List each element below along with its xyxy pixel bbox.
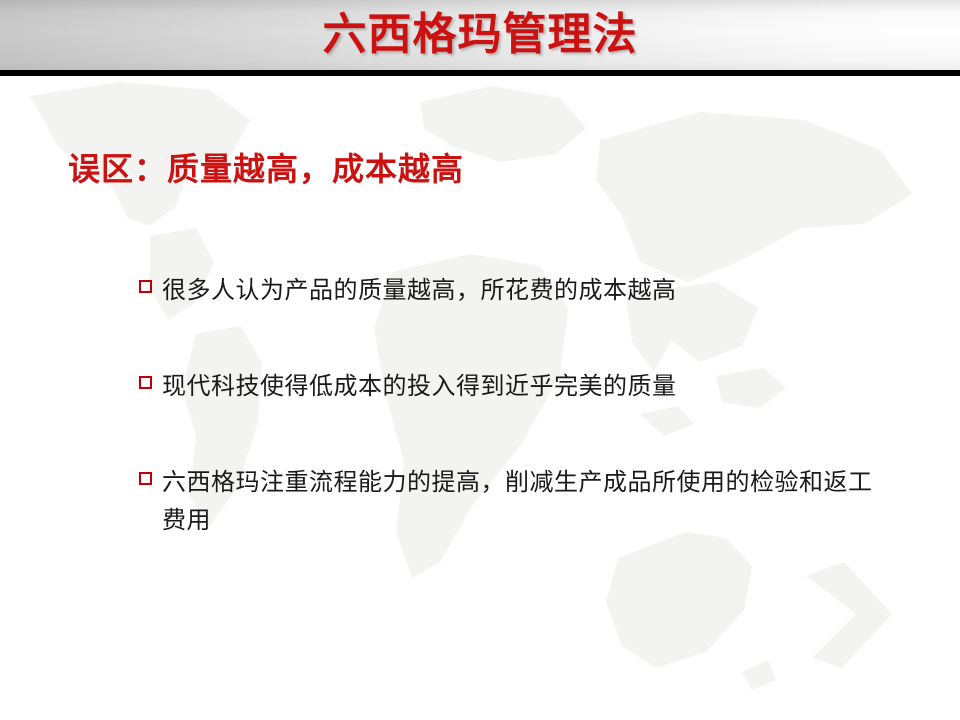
list-item: 六西格玛注重流程能力的提高，削减生产成品所使用的检验和返工费用 (138, 464, 878, 540)
list-item-label: 现代科技使得低成本的投入得到近乎完美的质量 (162, 368, 878, 406)
hollow-square-marker-icon (139, 376, 152, 389)
hollow-square-marker-icon (139, 472, 152, 485)
page-title: 六西格玛管理法 (0, 3, 960, 67)
slide-body: 误区：质量越高，成本越高 很多人认为产品的质量越高，所花费的成本越高 现代科技使… (0, 76, 960, 720)
hollow-square-marker-icon (139, 280, 152, 293)
presentation-slide: 六西格玛管理法 误区：质量越高，成本越高 很多人认为产品的质量越高，所花费的成本… (0, 0, 960, 720)
list-item: 现代科技使得低成本的投入得到近乎完美的质量 (138, 368, 878, 406)
list-item: 很多人认为产品的质量越高，所花费的成本越高 (138, 272, 878, 310)
title-divider-rule (0, 70, 960, 76)
bullet-list: 很多人认为产品的质量越高，所花费的成本越高 现代科技使得低成本的投入得到近乎完美… (138, 272, 878, 540)
slide-title-banner: 六西格玛管理法 (0, 0, 960, 70)
section-heading: 误区：质量越高，成本越高 (68, 144, 464, 190)
list-item-label: 六西格玛注重流程能力的提高，削减生产成品所使用的检验和返工费用 (162, 464, 878, 540)
list-item-label: 很多人认为产品的质量越高，所花费的成本越高 (162, 272, 878, 310)
